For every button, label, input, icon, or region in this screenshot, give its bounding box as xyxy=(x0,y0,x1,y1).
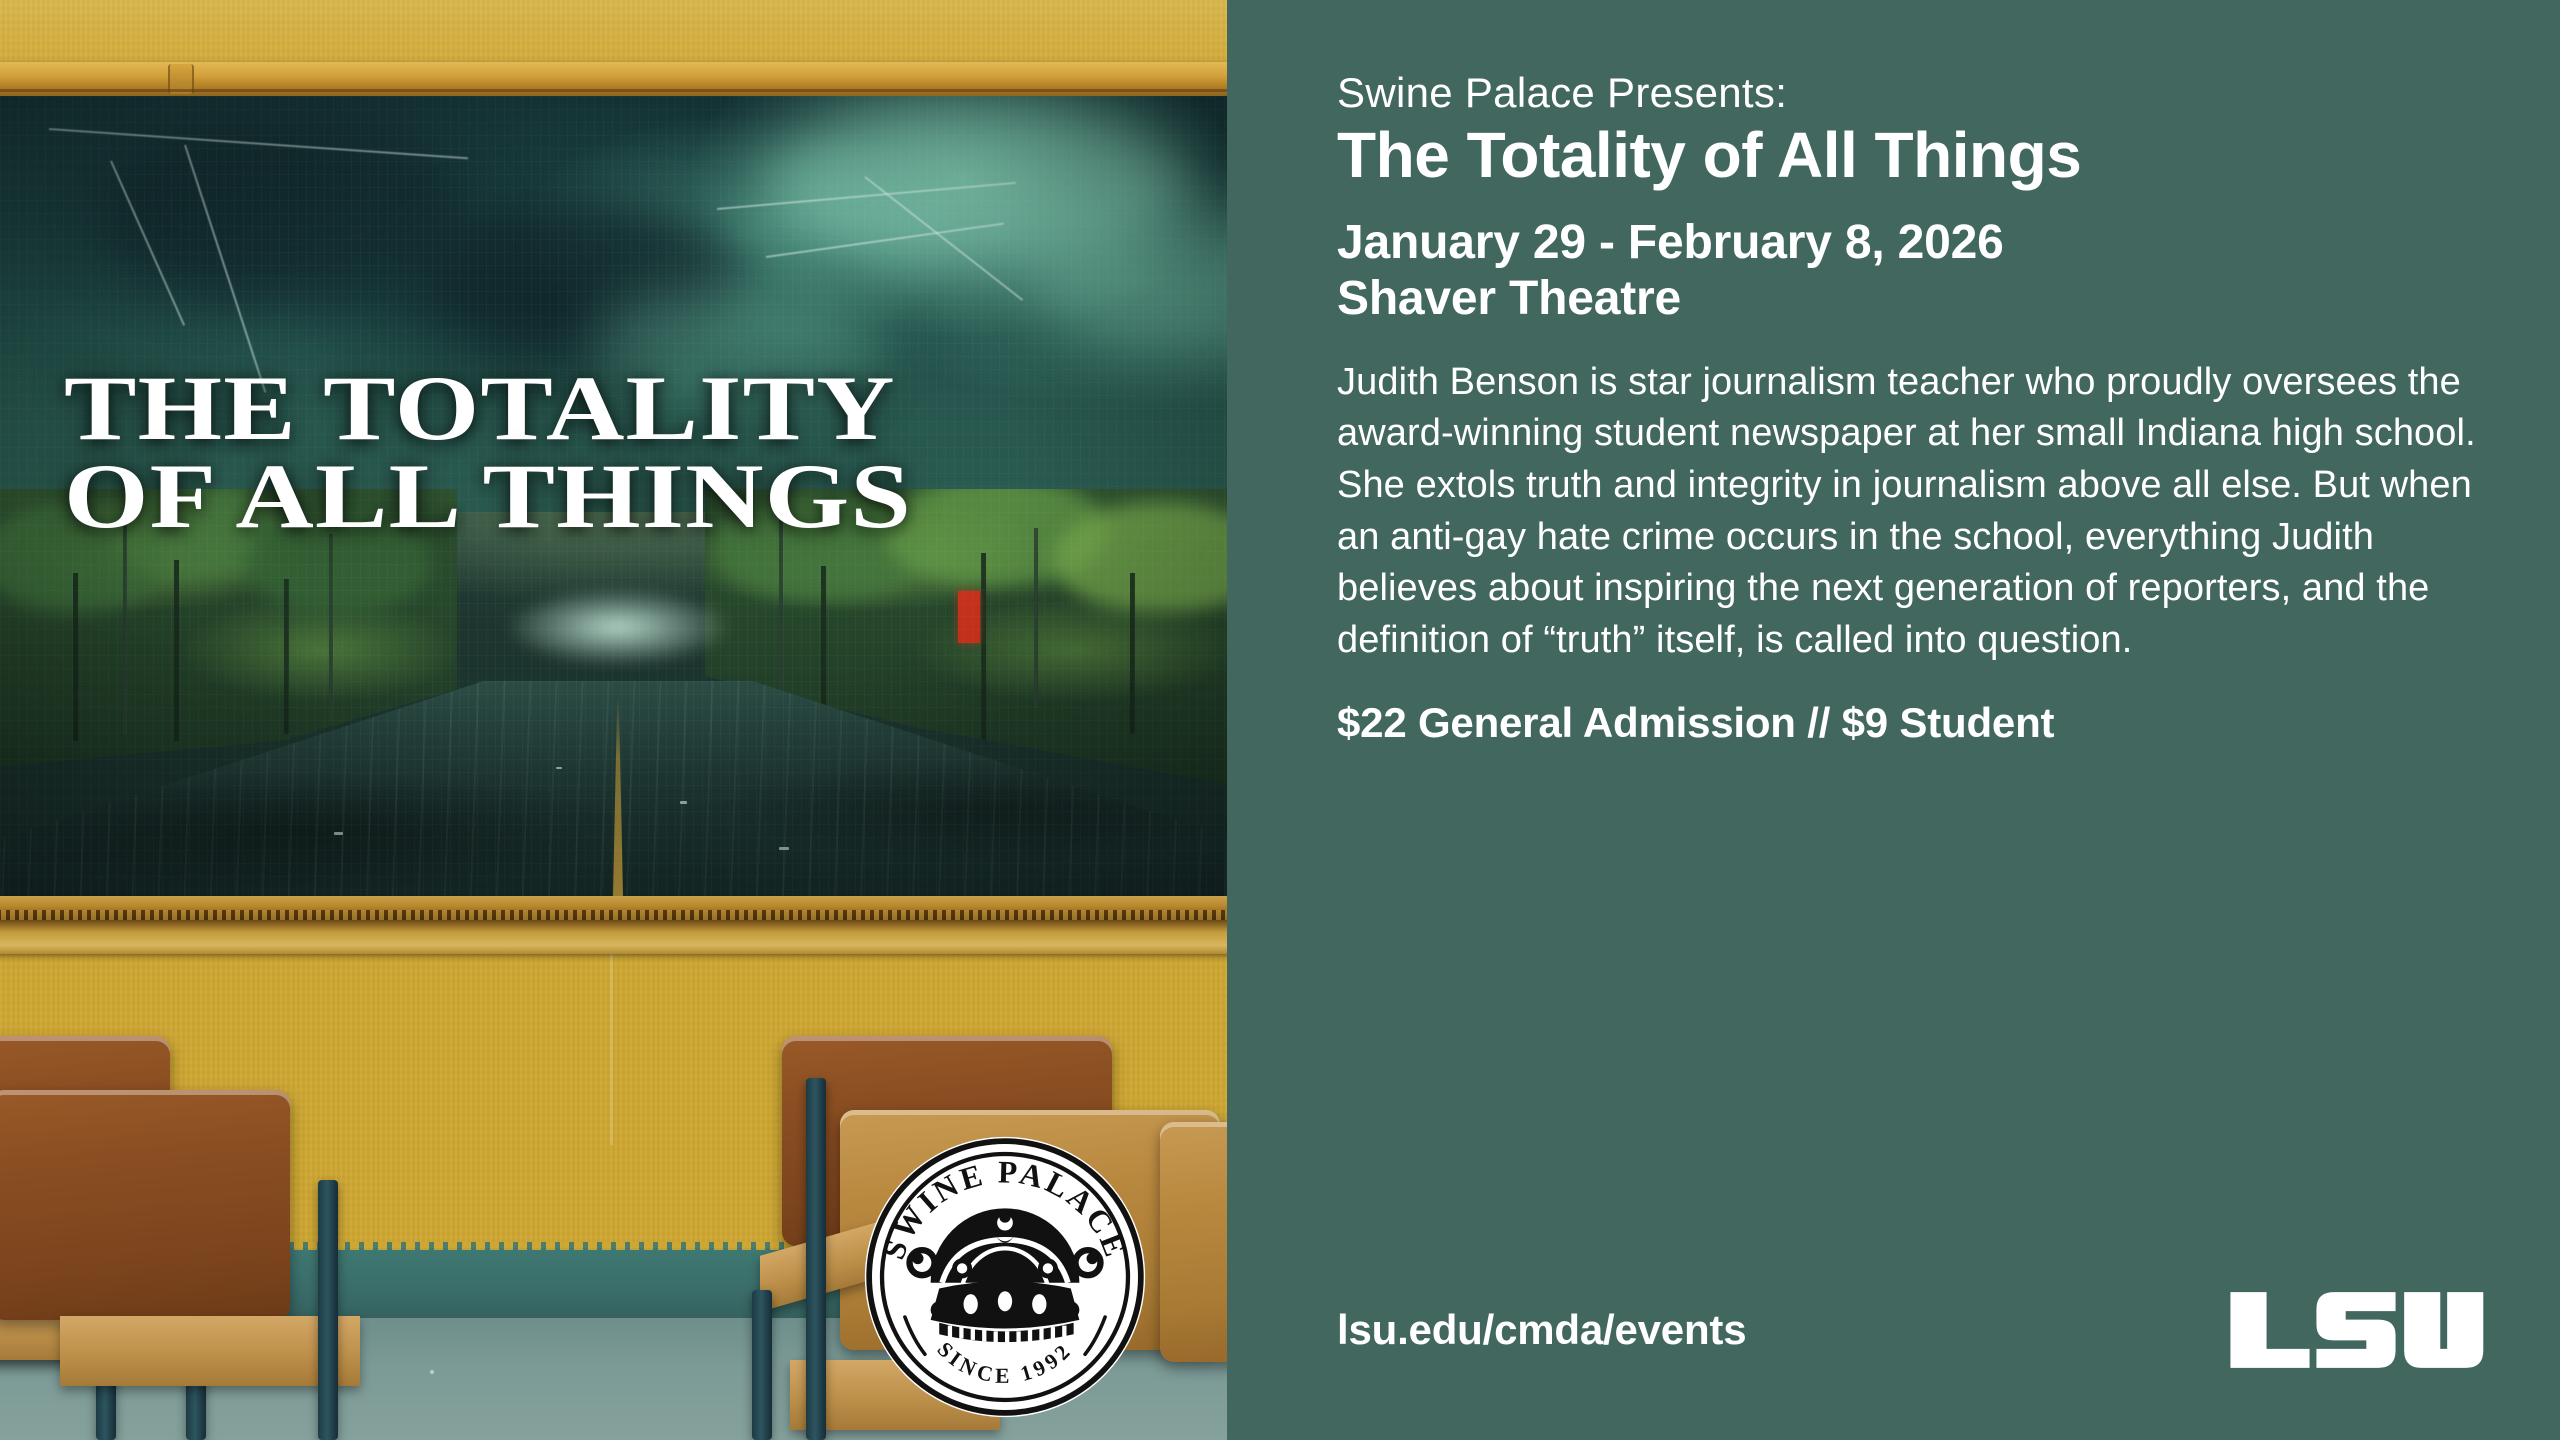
chalkboard-top-rail xyxy=(0,62,1227,96)
lsu-logo xyxy=(2224,1287,2488,1373)
run-dates: January 29 - February 8, 2026 xyxy=(1337,215,2484,271)
horizon-glow xyxy=(503,587,733,667)
poster-art-title: THE TOTALITY OF ALL THINGS xyxy=(64,364,912,541)
chalkboard-clip xyxy=(168,64,194,94)
events-url[interactable]: lsu.edu/cmda/events xyxy=(1337,1306,1746,1354)
wall-seam xyxy=(610,945,613,1145)
chalkboard-chalk-tray xyxy=(0,896,1227,954)
info-panel: Swine Palace Presents: The Totality of A… xyxy=(1227,0,2560,1440)
classroom-photo: THE TOTALITY OF ALL THINGS xyxy=(0,0,1227,1440)
show-title: The Totality of All Things xyxy=(1337,122,2484,189)
red-street-sign xyxy=(958,591,980,643)
venue-name: Shaver Theatre xyxy=(1337,271,2484,327)
roadside-landscape xyxy=(0,512,1227,896)
chalkboard-surface: THE TOTALITY OF ALL THINGS xyxy=(0,96,1227,896)
synopsis-text: Judith Benson is star journalism teacher… xyxy=(1337,357,2484,667)
ticket-price: $22 General Admission // $9 Student xyxy=(1337,699,2484,747)
swine-palace-seal: SWINE PALACE SINCE 1992 xyxy=(862,1134,1148,1420)
event-promo-poster: THE TOTALITY OF ALL THINGS xyxy=(0,0,2560,1440)
chalkboard: THE TOTALITY OF ALL THINGS xyxy=(0,62,1227,954)
presents-line: Swine Palace Presents: xyxy=(1337,70,2484,116)
